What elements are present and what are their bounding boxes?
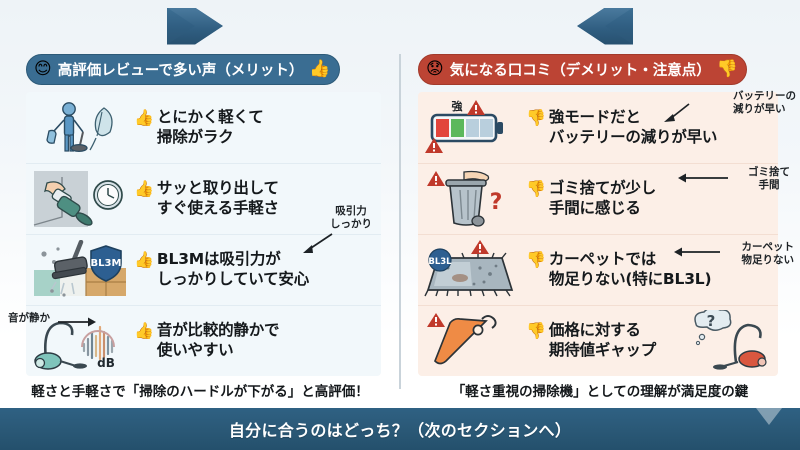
quiet-note-arrow (58, 316, 98, 328)
merit-row-1-line-1: とにかく軽くて (157, 108, 264, 128)
thumbs-down-icon: 👎 (526, 110, 546, 126)
demerit-row-4-line-2: 期待値ギャップ (549, 341, 656, 361)
thumbs-up-icon: 👍 (134, 252, 154, 268)
battery-drain-arrow (662, 102, 692, 124)
demerit-row-4-text: 👎 価格に対する 期待値ギャップ (526, 321, 656, 361)
trash-effort-note-line-1: ゴミ捨て (748, 166, 790, 179)
carpet-note-arrow (672, 246, 720, 258)
merit-row-4-text: 👍 音が比較的静かで 使いやすい (134, 321, 279, 361)
merit-row-4-line-2: 使いやすい (157, 341, 279, 361)
demerit-row-3-line-2: 物足りない(特にBL3L) (549, 270, 711, 290)
suction-note-arrow (300, 232, 336, 256)
demerit-column: 😟 気になる口コミ（デメリット・注意点） 👎 強 (400, 50, 800, 400)
demerit-row-4: 👎 価格に対する 期待値ギャップ ? (418, 305, 778, 376)
next-section-banner[interactable]: 自分に合うのはどっち？（次のセクションへ） (0, 408, 800, 450)
suction-note-line-1: 吸引力 (330, 205, 372, 218)
merit-row-3-text: 👍 BL3Mは吸引力が しっかりしていて安心 (134, 250, 309, 290)
merit-header-label: 高評価レビューで多い声（メリット） (58, 59, 304, 80)
worried-face-emoji: 😟 (426, 61, 444, 78)
demerit-header-label: 気になる口コミ（デメリット・注意点） (450, 59, 711, 80)
carpet-dust-illustration: BL3L (424, 240, 520, 300)
merit-row-4-line-1: 音が比較的静かで (157, 321, 279, 341)
thumbs-down-icon: 👎 (526, 252, 546, 268)
quiet-note: 音が静か (8, 312, 50, 325)
merit-row-1-text: 👍 とにかく軽くて 掃除がラク (134, 108, 264, 148)
carpet-note-line-1: カーペット (742, 241, 795, 254)
battery-mode-label: 強 (452, 99, 463, 113)
battery-drain-note-line-2: 減りが早い (733, 103, 796, 116)
comparison-columns: 😊 高評価レビューで多い声（メリット） 👍 (0, 50, 800, 400)
demerit-row-1-line-2: バッテリーの減りが早い (549, 128, 717, 148)
summary-row: 軽さと手軽さで「掃除のハードルが下がる」と高評価！ 「軽さ重視の掃除機」としての… (0, 378, 800, 402)
demerit-summary: 「軽さ重視の掃除機」としての理解が満足度の鍵 (400, 378, 800, 402)
battery-drain-note-line-1: バッテリーの (733, 90, 796, 103)
banner-notch-icon (756, 408, 782, 425)
demerit-row-2-line-2: 手間に感じる (549, 199, 656, 219)
floor-nozzle-shield-illustration: BL3M (32, 240, 128, 300)
demerit-panel: 強 👎 強モー (418, 92, 778, 376)
merit-row-1-line-2: 掃除がラク (157, 128, 264, 148)
db-label: dB (97, 356, 115, 370)
merit-row-2-text: 👍 サッと取り出して すぐ使える手軽さ (134, 179, 279, 219)
thumbs-up-icon: 👍 (134, 110, 154, 126)
merit-summary: 軽さと手軽さで「掃除のハードルが下がる」と高評価！ (0, 378, 400, 402)
merit-row-2: 👍 サッと取り出して すぐ使える手軽さ (26, 163, 381, 234)
suction-note-line-2: しっかり (330, 218, 372, 231)
carpet-badge-bl3l: BL3L (428, 257, 452, 267)
demerit-row-3: BL3L 👎 カーペットでは 物足りない(特にBL3L) (418, 234, 778, 305)
trash-bin-hand-illustration: ? (424, 169, 520, 229)
thumbs-down-icon: 👎 (526, 323, 546, 339)
thumbs-down-icon: 👎 (717, 61, 738, 78)
price-tag-illustration (424, 311, 520, 371)
title-ribbon: "口コミ比較：リアルな評価まとめ" (167, 8, 633, 45)
thumbs-up-icon: 👍 (134, 181, 154, 197)
title-ribbon-inner (167, 8, 633, 45)
merit-row-3-line-2: しっかりしていて安心 (157, 270, 309, 290)
next-section-label: 自分に合うのはどっち？（次のセクションへ） (229, 417, 571, 441)
page-title: "口コミ比較：リアルな評価まとめ" (243, 13, 556, 40)
demerit-row-1: 強 👎 強モー (418, 92, 778, 163)
merit-column: 😊 高評価レビューで多い声（メリット） 👍 (0, 50, 400, 400)
thumbs-down-icon: 👎 (526, 181, 546, 197)
thinking-vacuum-illustration: ? (682, 310, 774, 372)
merit-row-2-line-2: すぐ使える手軽さ (157, 199, 279, 219)
thumbs-up-icon: 👍 (134, 323, 154, 339)
handheld-vacuum-clock-illustration (32, 169, 128, 229)
demerit-row-2-text: 👎 ゴミ捨てが少し 手間に感じる (526, 179, 656, 219)
merit-row-1: 👍 とにかく軽くて 掃除がラク (26, 92, 381, 163)
trash-effort-note: ゴミ捨て 手間 (748, 166, 790, 192)
demerit-header-pill: 😟 気になる口コミ（デメリット・注意点） 👎 (418, 54, 747, 85)
demerit-row-2-line-1: ゴミ捨てが少し (549, 179, 656, 199)
merit-header-pill: 😊 高評価レビューで多い声（メリット） 👍 (26, 54, 340, 85)
merit-row-2-line-1: サッと取り出して (157, 179, 279, 199)
trash-effort-arrow (676, 172, 728, 184)
thumbs-up-icon: 👍 (309, 61, 330, 78)
title-banner: "口コミ比較：リアルな評価まとめ" (0, 5, 800, 47)
battery-drain-note: バッテリーの 減りが早い (733, 90, 796, 116)
shield-badge-bl3m: BL3M (91, 258, 122, 269)
question-mark-icon: ? (707, 312, 716, 330)
smiling-face-emoji: 😊 (34, 61, 52, 78)
carpet-note-line-2: 物足りない (742, 254, 795, 267)
battery-strong-mode-illustration: 強 (424, 98, 520, 158)
merit-row-3-line-1: BL3Mは吸引力が (157, 250, 309, 270)
suction-note: 吸引力 しっかり (330, 205, 372, 231)
person-vacuum-feather-illustration (32, 98, 128, 158)
carpet-note: カーペット 物足りない (742, 241, 795, 267)
demerit-row-4-line-1: 価格に対する (549, 321, 656, 341)
question-mark-icon: ? (490, 190, 503, 215)
quiet-note-line-1: 音が静か (8, 312, 50, 324)
trash-effort-note-line-2: 手間 (748, 179, 790, 192)
